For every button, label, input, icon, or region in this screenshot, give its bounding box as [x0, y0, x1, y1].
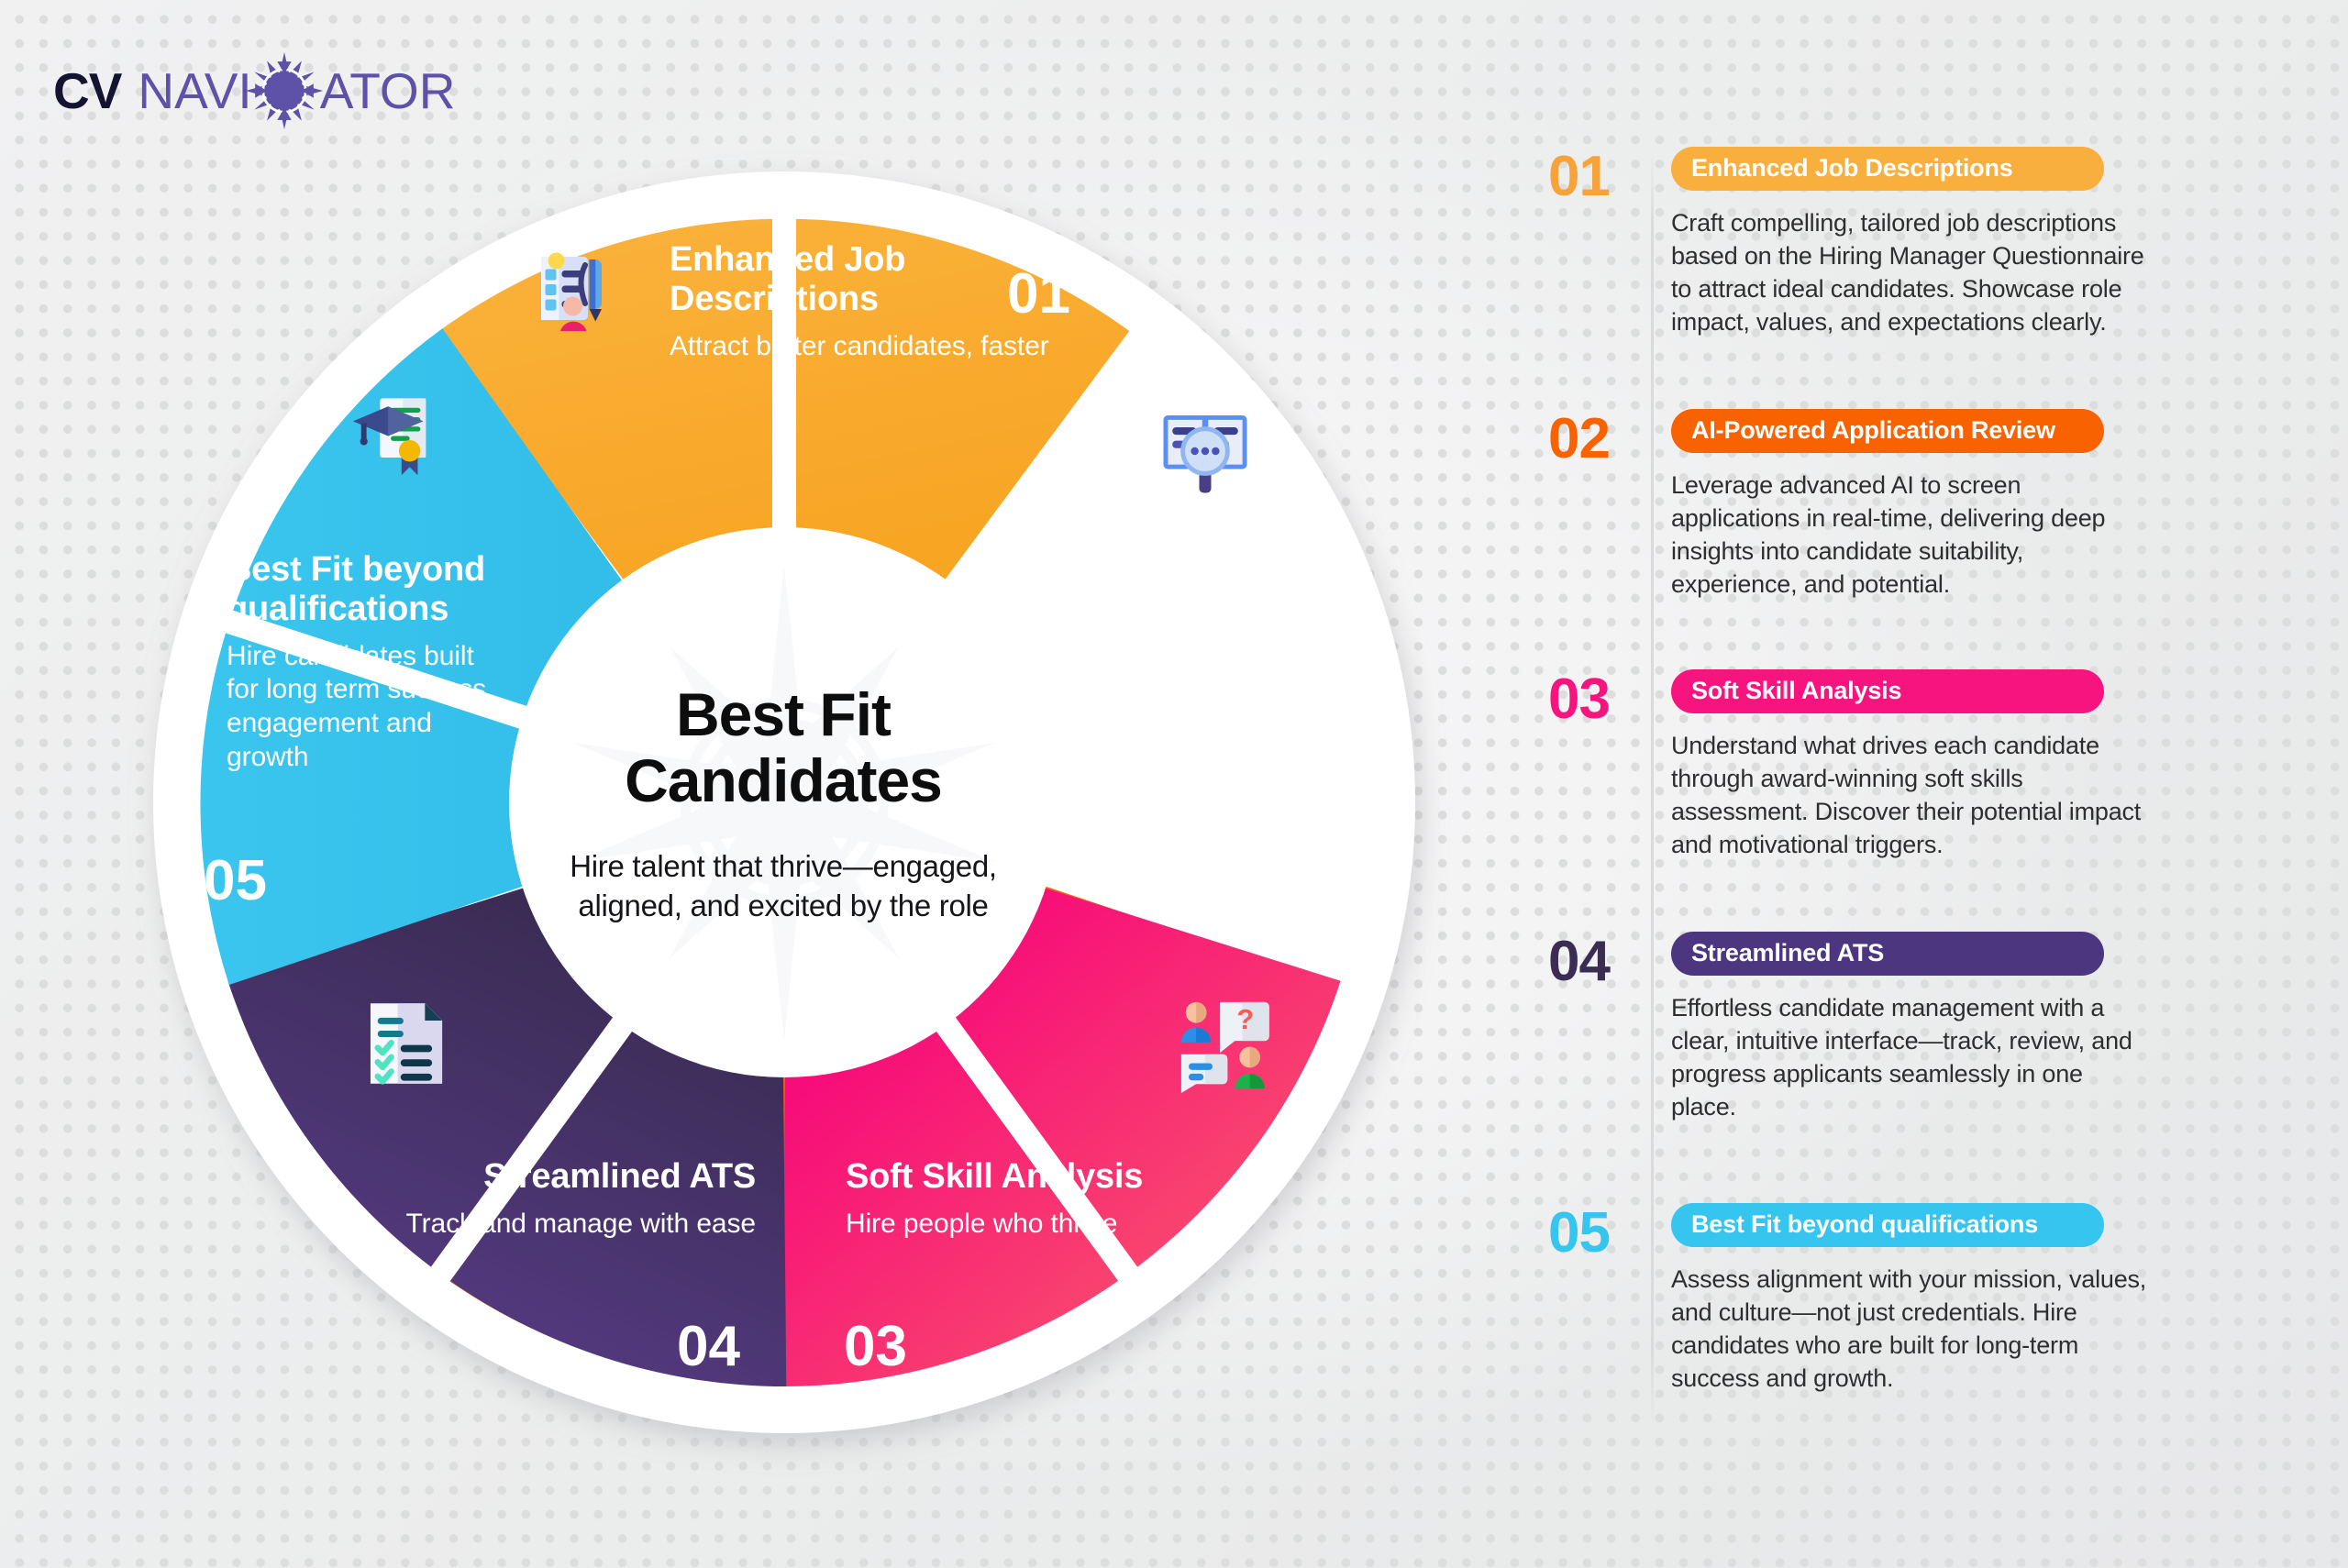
panel-item-02-description: Leverage advanced AI to screen applicati…	[1671, 469, 2148, 602]
wheel-segment-02-number: 02	[1312, 848, 1375, 905]
panel-item-02-badge[interactable]: AI-Powered Application Review	[1671, 409, 2104, 453]
logo-text-cv: CV	[53, 66, 121, 116]
panel-item-05[interactable]: 05 Best Fit beyond qualifications Assess…	[1548, 1203, 2300, 1396]
panel-item-03-description: Understand what drives each candidate th…	[1671, 730, 2148, 862]
brand-logo: CV NAVI G ATOR	[53, 57, 455, 125]
page-subtitle: Hire talent that thrive—engaged, aligned…	[521, 847, 1046, 926]
logo-mark-letter: G	[274, 76, 293, 105]
people-question-icon: ?	[1177, 998, 1272, 1098]
panel-item-02[interactable]: 02 AI-Powered Application Review Leverag…	[1548, 409, 2300, 602]
wheel-segment-02-subtitle: Spot top talent instantly	[1126, 668, 1401, 735]
wheel-segment-02-text: AI-Powered Application Review Spot top t…	[1126, 539, 1401, 735]
wheel-segment-02-title: AI-Powered Application Review	[1126, 539, 1401, 657]
panel-item-04-badge[interactable]: Streamlined ATS	[1671, 932, 2104, 976]
panel-item-04[interactable]: 04 Streamlined ATS Effortless candidate …	[1548, 932, 2300, 1124]
document-search-icon	[1157, 403, 1253, 503]
wheel-segment-03-title: Soft Skill Analysis	[846, 1157, 1194, 1197]
wheel-segment-05-number: 05	[204, 853, 267, 910]
panel-item-03-badge[interactable]: Soft Skill Analysis	[1671, 669, 2104, 713]
wheel-segment-03-text: Soft Skill Analysis Hire people who thri…	[846, 1157, 1194, 1242]
panel-item-05-number: 05	[1548, 1205, 1644, 1262]
wheel-segment-05-title: Best Fit beyond qualifications	[227, 550, 511, 629]
wheel-segment-01-title: Enhanced Job Descriptions	[670, 240, 1055, 319]
wheel-segment-04-subtitle: Track and manage with ease	[371, 1208, 756, 1242]
page-title: Best Fit Candidates	[625, 681, 942, 814]
panel-item-01[interactable]: 01 Enhanced Job Descriptions Craft compe…	[1548, 147, 2300, 339]
wheel-segment-05-subtitle: Hire candidates built for long term succ…	[227, 640, 511, 774]
graduation-certificate-icon	[350, 394, 437, 485]
compass-rose-icon: G	[245, 51, 324, 130]
panel-item-03-number: 03	[1548, 671, 1644, 728]
wheel-segment-01-subtitle: Attract better candidates, faster	[670, 330, 1055, 364]
wheel-segment-05-text: Best Fit beyond qualifications Hire cand…	[227, 550, 511, 774]
wheel-segment-01-number: 01	[1007, 266, 1070, 323]
logo-text-navi: NAVI	[138, 66, 251, 116]
panel-item-01-number: 01	[1548, 149, 1644, 205]
wheel-segment-03-number: 03	[844, 1319, 907, 1375]
panel-item-04-number: 04	[1548, 933, 1644, 990]
wheel-segment-04-number: 04	[677, 1319, 740, 1375]
page-title-line-1: Best Fit	[676, 680, 891, 748]
panel-item-02-number: 02	[1548, 411, 1644, 468]
panel-item-01-badge[interactable]: Enhanced Job Descriptions	[1671, 147, 2104, 191]
panel-item-05-badge[interactable]: Best Fit beyond qualifications	[1671, 1203, 2104, 1247]
panel-item-03[interactable]: 03 Soft Skill Analysis Understand what d…	[1548, 669, 2300, 862]
page-title-line-2: Candidates	[625, 746, 942, 814]
wheel-center-hub: Best Fit Candidates Hire talent that thr…	[521, 541, 1046, 1066]
panel-item-04-description: Effortless candidate management with a c…	[1671, 992, 2148, 1124]
panel-item-05-description: Assess alignment with your mission, valu…	[1671, 1264, 2148, 1396]
wheel-segment-01-text: Enhanced Job Descriptions Attract better…	[670, 240, 1055, 363]
wheel-segment-03-subtitle: Hire people who thrive	[846, 1208, 1194, 1242]
job-description-icon	[530, 246, 618, 338]
logo-text-ator: ATOR	[320, 66, 456, 116]
panel-item-01-description: Craft compelling, tailored job descripti…	[1671, 207, 2148, 339]
wheel-segment-04-text: Streamlined ATS Track and manage with ea…	[371, 1157, 756, 1242]
wheel-segment-04-title: Streamlined ATS	[371, 1157, 756, 1197]
feature-detail-panel: 01 Enhanced Job Descriptions Craft compe…	[1548, 147, 2300, 1430]
svg-text:?: ?	[1236, 1003, 1254, 1035]
checklist-document-icon	[360, 998, 452, 1094]
